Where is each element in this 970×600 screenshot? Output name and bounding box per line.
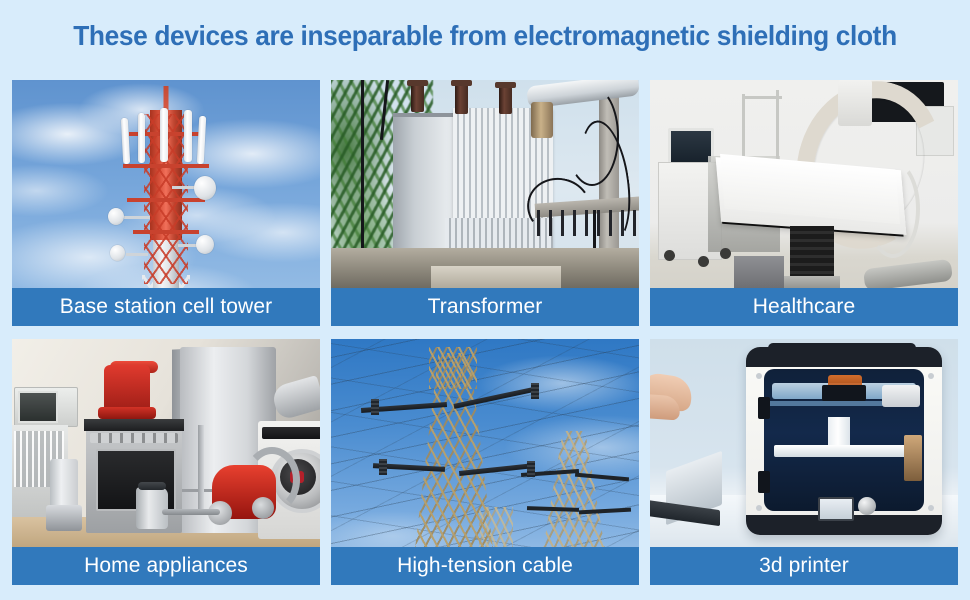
transformer-bushing [499,84,512,114]
antenna-panel [138,113,145,163]
print-head [822,385,866,401]
blender-base [46,505,82,531]
card-caption: Healthcare [650,288,958,326]
equipment-arm [742,96,782,99]
operating-table-column [790,226,834,282]
cart-wheel [720,248,731,259]
chamber-clip [758,471,770,493]
vacuum-wand [198,425,204,509]
device-card-grid: Base station cell tower [12,80,958,586]
microwave-dish [110,245,125,261]
card-caption: Transformer [331,288,639,326]
overhead-wire [361,80,364,250]
antenna-arm [124,216,150,219]
stand-mixer [104,365,150,413]
printer-screw [756,505,762,511]
antenna-panel [160,108,168,162]
card-base-station-cell-tower[interactable]: Base station cell tower [12,80,320,326]
stove-cooktop [84,419,184,431]
cart-wheel [664,250,675,261]
printer-module-box [882,385,920,407]
kettle-lid [138,482,166,490]
microwave-dish [194,176,216,200]
bushing-cap [495,82,516,88]
vacuum-wheel [252,497,274,519]
transformer-oil-gauge [531,102,553,138]
tower-crossbar [127,198,205,202]
bushing-cap [407,80,428,86]
printed-object [828,417,850,447]
printer-screw [756,373,762,379]
microwave-window [18,391,58,423]
concrete-beam [431,266,561,288]
antenna-arm [126,253,148,256]
iv-pole [776,90,779,166]
microwave-dish [196,235,214,254]
card-home-appliances[interactable]: Home appliances [12,339,320,585]
antenna-panel [184,110,192,162]
card-caption: Home appliances [12,547,320,585]
cart-wheel [698,256,709,267]
blender-jar [50,459,78,511]
printer-control-knob[interactable] [858,497,876,515]
card-transformer[interactable]: Transformer [331,80,639,326]
filament-spool [904,435,922,481]
main-pylon-top [429,347,477,389]
printer-screw [928,373,934,379]
microwave-dish [108,208,124,225]
card-high-tension-cable[interactable]: High-tension cable [331,339,639,585]
insulator-string [531,383,539,399]
bushing-cap [451,80,472,86]
card-healthcare[interactable]: Healthcare [650,80,958,326]
printer-screw [928,505,934,511]
printer-top-panel [746,347,942,367]
page-title: These devices are inseparable from elect… [29,20,941,52]
washing-machine-panel [262,427,320,439]
c-arm-detector [838,80,872,126]
insulator-string [371,399,379,415]
stove-control-knobs [90,433,178,443]
electric-kettle [136,487,168,529]
card-caption: 3d printer [650,547,958,585]
transformer-bushing [411,82,424,112]
insulator-string [527,461,535,477]
poster: These devices are inseparable from elect… [0,0,970,600]
insulator-string [379,459,387,475]
tower-crossbar [123,164,209,168]
card-caption: High-tension cable [331,547,639,585]
floor-equipment-box [734,256,784,288]
tower-crossbar [133,230,199,234]
stand-mixer-base [98,407,156,419]
transformer-bushing [455,82,468,114]
print-bed [774,445,910,457]
chamber-clip [758,397,770,419]
card-3d-printer[interactable]: 3d printer [650,339,958,585]
vacuum-floor-tube [162,509,220,515]
laptop [650,461,724,519]
card-caption: Base station cell tower [12,288,320,326]
printer-display[interactable] [818,497,854,521]
